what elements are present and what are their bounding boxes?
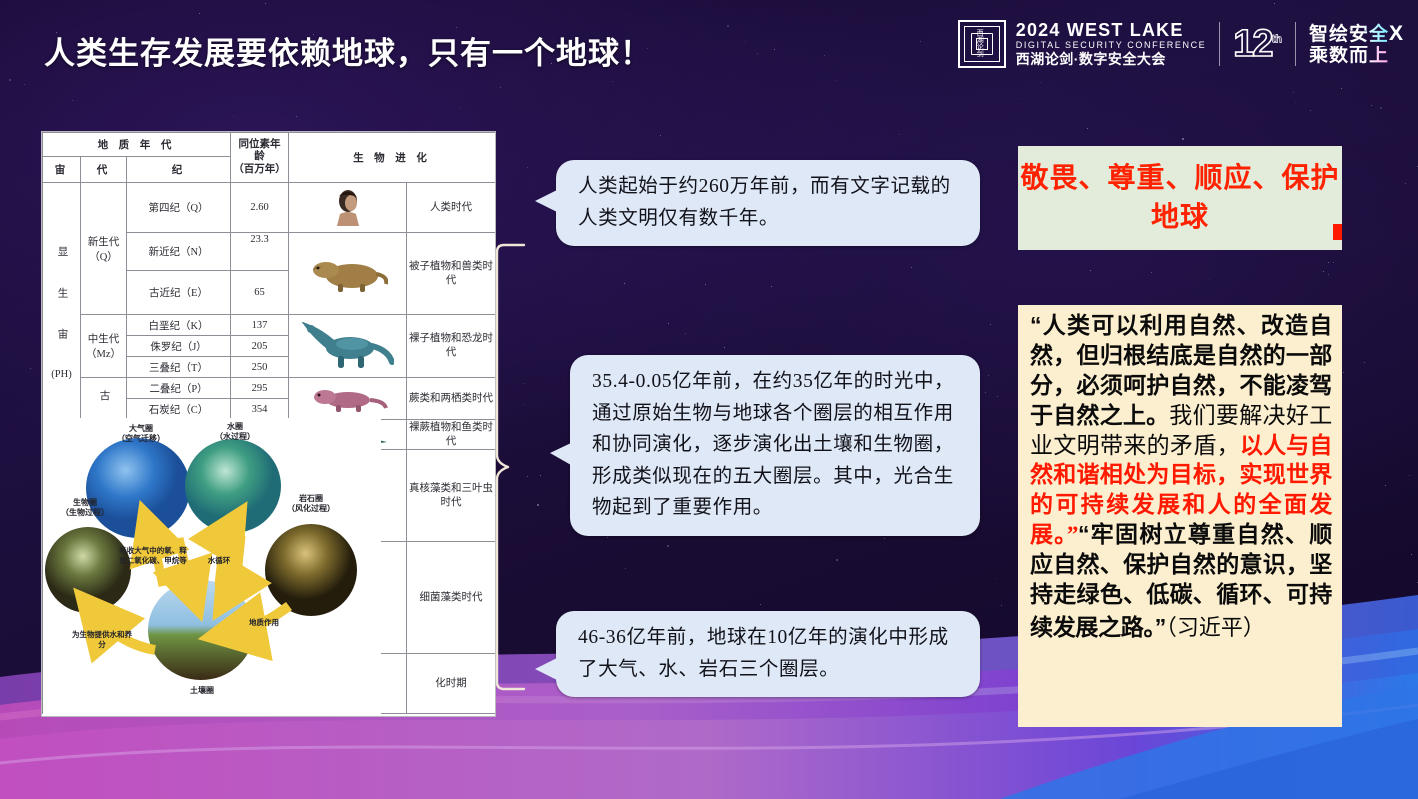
label-atmosphere-l1: 大气圈 xyxy=(101,424,181,434)
flow-geologic-action: 地质作用 xyxy=(239,618,289,628)
star-dot xyxy=(685,333,686,334)
star-dot xyxy=(233,116,234,117)
star-dot xyxy=(1341,88,1342,89)
callout-early-earth: 46-36亿年前，地球在10亿年的演化中形成了大气、水、岩石三个圈层。 xyxy=(556,611,980,697)
star-dot xyxy=(836,80,837,81)
header-eon: 宙 xyxy=(43,157,81,183)
star-dot xyxy=(1328,262,1329,263)
geological-figure-panel: 地 质 年 代 同位素年 龄 （百万年） 生 物 进 化 宙 代 纪 显 生 宙… xyxy=(41,131,496,717)
label-hydrosphere: 水圈 （水过程） xyxy=(199,422,271,442)
cell-period: 白垩纪（K） xyxy=(127,315,231,336)
cell-period: 古近纪（E） xyxy=(127,271,231,315)
star-dot xyxy=(824,55,825,56)
star-dot xyxy=(990,324,991,325)
star-dot xyxy=(1333,262,1334,263)
cell-evolution: 蕨类和两栖类时代 xyxy=(407,378,496,420)
header-isotope-line1: 同位素年 xyxy=(233,139,286,151)
star-dot xyxy=(884,538,885,539)
star-dot xyxy=(1293,92,1294,93)
conference-slogan: 智绘安全X 乘数而上 xyxy=(1309,23,1404,65)
star-dot xyxy=(265,3,266,4)
cell-evolution: 被子植物和兽类时代 xyxy=(407,233,496,315)
star-dot xyxy=(1328,274,1329,275)
star-dot xyxy=(624,283,625,284)
star-dot xyxy=(797,575,798,576)
star-dot xyxy=(72,100,73,101)
cell-period: 第四纪（Q） xyxy=(127,183,231,233)
cell-age: 295 xyxy=(231,378,289,399)
star-dot xyxy=(988,375,989,376)
cell-age: 23.3 xyxy=(231,233,289,271)
star-dot xyxy=(745,41,746,42)
star-dot xyxy=(1274,3,1275,4)
table-header-row-1: 地 质 年 代 同位素年 龄 （百万年） 生 物 进 化 xyxy=(43,133,496,157)
cell-evolution: 人类时代 xyxy=(407,183,496,233)
conference-logo: 西湖论剑 2024 WEST LAKE DIGITAL SECURITY CON… xyxy=(958,18,1404,70)
callout-text: 46-36亿年前，地球在10亿年的演化中形成了大气、水、岩石三个圈层。 xyxy=(578,627,949,680)
header-geology: 地 质 年 代 xyxy=(43,133,231,157)
table-row: 古 生 二叠纪（P） 295 蕨类和两栖类时代 xyxy=(43,378,496,399)
star-dot xyxy=(771,286,772,287)
cell-creature-image xyxy=(289,315,407,378)
star-dot xyxy=(625,568,626,569)
star-dot xyxy=(1087,128,1088,129)
red-accent-marker xyxy=(1333,224,1342,240)
conference-name-en-secondary: DIGITAL SECURITY CONFERENCE xyxy=(1016,41,1207,50)
star-dot xyxy=(1364,362,1365,363)
lithosphere-sphere xyxy=(265,524,357,616)
table-row: 显 生 宙 (PH) 新生代 （Q） 第四纪（Q） 2.60 xyxy=(43,183,496,233)
star-dot xyxy=(660,135,661,136)
hominid-icon xyxy=(326,188,370,228)
quotation-panel: “人类可以利用自然、改造自然，但归根结底是自然的一部分，必须呵护自然，不能凌驾于… xyxy=(1018,305,1342,727)
star-dot xyxy=(985,392,986,393)
star-dot xyxy=(727,25,729,27)
slogan-x-icon: X xyxy=(1389,22,1404,45)
flow-gas-exchange: 吸收大气中的氧、释放二氧化碳、甲烷等 xyxy=(117,546,189,566)
spheres-arrows xyxy=(43,418,381,715)
cell-era-cenozoic: 新生代 （Q） xyxy=(81,183,127,315)
star-dot xyxy=(667,545,669,547)
header-isotope-line3: （百万年） xyxy=(233,164,286,176)
star-dot xyxy=(668,323,669,324)
cell-creature-image xyxy=(289,233,407,315)
cell-creature-image xyxy=(289,378,407,420)
star-dot xyxy=(500,87,501,88)
star-dot xyxy=(1310,110,1311,111)
label-pedosphere: 土壤圈 xyxy=(169,686,235,696)
slogan-line-2: 乘数而上 xyxy=(1309,46,1404,65)
logo-divider-2 xyxy=(1295,22,1296,66)
amphibian-icon xyxy=(308,384,388,414)
quotation-text: “人类可以利用自然、改造自然，但归根结底是自然的一部分，必须呵护自然，不能凌驾于… xyxy=(1030,311,1332,643)
slide-root: 人类生存发展要依赖地球，只有一个地球！ 西湖论剑 2024 WEST LAKE … xyxy=(0,0,1418,799)
label-atmosphere: 大气圈 （空气迁移） xyxy=(101,424,181,444)
star-dot xyxy=(705,284,706,285)
callout-biosphere-evolution: 35.4-0.05亿年前，在约35亿年的时光中，通过原始生物与地球各个圈层的相互… xyxy=(570,355,980,536)
conference-name-block: 2024 WEST LAKE DIGITAL SECURITY CONFEREN… xyxy=(1016,21,1207,67)
star-dot xyxy=(1405,183,1406,184)
cell-period: 三叠纪（T） xyxy=(127,357,231,378)
star-dot xyxy=(1385,485,1386,486)
label-lithosphere-l1: 岩石圈 xyxy=(271,494,351,504)
star-dot xyxy=(1001,605,1002,606)
star-dot xyxy=(1343,372,1344,373)
header-era: 代 xyxy=(81,157,127,183)
table-row: 中生代 （Mz） 白垩纪（K） 137 裸子植物和恐 xyxy=(43,315,496,336)
label-hydrosphere-l1: 水圈 xyxy=(199,422,271,432)
cell-evolution: 化时期 xyxy=(407,654,496,714)
cell-period: 石炭纪（C） xyxy=(127,399,231,420)
edition-number-value: 12 xyxy=(1233,23,1271,65)
cell-era-mesozoic: 中生代 （Mz） xyxy=(81,315,127,378)
cell-evolution: 真核藻类和三叶虫时代 xyxy=(407,450,496,542)
star-dot xyxy=(1410,622,1411,623)
era-name: 中生代 xyxy=(83,331,124,346)
slogan-line-1: 智绘安全X xyxy=(1309,23,1404,44)
star-dot xyxy=(724,347,725,348)
header-evolution: 生 物 进 化 xyxy=(289,133,496,183)
callout-tail xyxy=(550,443,571,465)
star-dot xyxy=(1090,270,1091,271)
page-title: 人类生存发展要依赖地球，只有一个地球！ xyxy=(44,28,652,73)
star-dot xyxy=(774,49,775,50)
cell-period: 新近纪（N） xyxy=(127,233,231,271)
star-dot xyxy=(296,116,297,117)
cell-age: 250 xyxy=(231,357,289,378)
cell-period: 二叠纪（P） xyxy=(127,378,231,399)
callout-text: 35.4-0.05亿年前，在约35亿年的时光中，通过原始生物与地球各个圈层的相互… xyxy=(592,371,954,518)
atmosphere-sphere xyxy=(86,438,190,538)
flow-nutrient-supply: 为生物提供水和养分 xyxy=(71,630,133,650)
star-dot xyxy=(1380,107,1382,109)
callout-tail xyxy=(535,190,557,212)
label-lithosphere-l2: （风化过程） xyxy=(271,504,351,514)
star-dot xyxy=(995,578,996,579)
earth-spheres-diagram: 大气圈 （空气迁移） 水圈 （水过程） 岩石圈 （风化过程） 生物圈 （生物过程… xyxy=(43,418,381,715)
label-biosphere-l1: 生物圈 xyxy=(47,498,123,508)
flow-water-cycle: 水循环 xyxy=(199,556,239,566)
cell-creature-image xyxy=(289,183,407,233)
era-code: （Q） xyxy=(83,249,124,264)
star-dot xyxy=(1209,279,1210,280)
star-dot xyxy=(607,537,608,538)
cell-age: 205 xyxy=(231,336,289,357)
hydrosphere-sphere xyxy=(185,439,281,533)
grouping-bracket xyxy=(494,243,540,691)
cell-eon: 显 生 宙 (PH) xyxy=(43,183,81,450)
star-dot xyxy=(24,84,25,85)
header-isotope-age: 同位素年 龄 （百万年） xyxy=(231,133,289,183)
star-dot xyxy=(1411,554,1412,555)
callout-text: 人类起始于约260万年前，而有文字记载的人类文明仅有数千年。 xyxy=(578,176,951,229)
star-dot xyxy=(30,368,31,369)
cell-age: 65 xyxy=(231,271,289,315)
era-name: 新生代 xyxy=(83,234,124,249)
conference-name-cn: 西湖论剑·数字安全大会 xyxy=(1016,52,1207,67)
slogan-line-1-text: 智绘安全 xyxy=(1309,24,1389,45)
star-dot xyxy=(911,267,912,268)
cell-evolution: 细菌藻类时代 xyxy=(407,542,496,654)
star-dot xyxy=(899,134,900,135)
label-biosphere: 生物圈 （生物过程） xyxy=(47,498,123,518)
star-dot xyxy=(1182,138,1184,140)
header-period: 纪 xyxy=(127,157,231,183)
dinosaur-icon xyxy=(302,322,394,370)
star-dot xyxy=(997,396,998,397)
logo-divider-1 xyxy=(1219,22,1220,66)
cell-evolution: 裸蕨植物和鱼类时代 xyxy=(407,420,496,450)
star-dot xyxy=(1371,105,1372,106)
west-lake-emblem-icon: 西湖论剑 xyxy=(958,20,1006,68)
star-dot xyxy=(920,41,921,42)
star-dot xyxy=(527,167,528,168)
label-atmosphere-l2: （空气迁移） xyxy=(101,434,181,444)
edition-number-suffix: th xyxy=(1272,33,1282,45)
label-pedosphere-l1: 土壤圈 xyxy=(169,686,235,696)
star-dot xyxy=(199,13,200,14)
biosphere-sphere xyxy=(45,527,131,613)
callout-human-origin: 人类起始于约260万年前，而有文字记载的人类文明仅有数千年。 xyxy=(556,160,980,246)
star-dot xyxy=(1417,582,1418,583)
star-dot xyxy=(459,107,460,108)
principles-panel: 敬畏、尊重、顺应、保护地球 xyxy=(1018,146,1342,250)
label-biosphere-l2: （生物过程） xyxy=(47,508,123,518)
star-dot xyxy=(757,53,758,54)
cell-period: 侏罗纪（J） xyxy=(127,336,231,357)
star-dot xyxy=(760,604,761,605)
star-dot xyxy=(1151,272,1152,273)
mammal-icon xyxy=(308,254,388,294)
star-dot xyxy=(1409,475,1410,476)
cell-age: 137 xyxy=(231,315,289,336)
quote-attribution: （习近平） xyxy=(1166,615,1265,640)
star-dot xyxy=(612,81,613,82)
star-dot xyxy=(1040,82,1041,83)
conference-name-en-primary: 2024 WEST LAKE xyxy=(1016,21,1207,40)
label-hydrosphere-l2: （水过程） xyxy=(199,432,271,442)
star-dot xyxy=(1018,98,1019,99)
star-dot xyxy=(1323,271,1324,272)
principles-title: 敬畏、尊重、顺应、保护地球 xyxy=(1018,159,1342,236)
star-dot xyxy=(9,79,11,81)
edition-number: 12th xyxy=(1233,25,1282,63)
cell-age: 354 xyxy=(231,399,289,420)
cell-evolution: 裸子植物和恐龙时代 xyxy=(407,315,496,378)
emblem-core-text: 西湖论剑 xyxy=(976,38,988,50)
eon-label: 显 生 宙 xyxy=(50,246,72,353)
callout-tail xyxy=(535,658,557,680)
star-dot xyxy=(836,559,838,561)
header-isotope-line2: 龄 xyxy=(233,151,286,163)
cell-age: 2.60 xyxy=(231,183,289,233)
star-dot xyxy=(972,160,973,161)
era-code: （Mz） xyxy=(83,346,124,361)
eon-code: (PH) xyxy=(45,364,78,386)
label-lithosphere: 岩石圈 （风化过程） xyxy=(271,494,351,514)
star-dot xyxy=(540,475,541,476)
star-dot xyxy=(1295,102,1296,103)
